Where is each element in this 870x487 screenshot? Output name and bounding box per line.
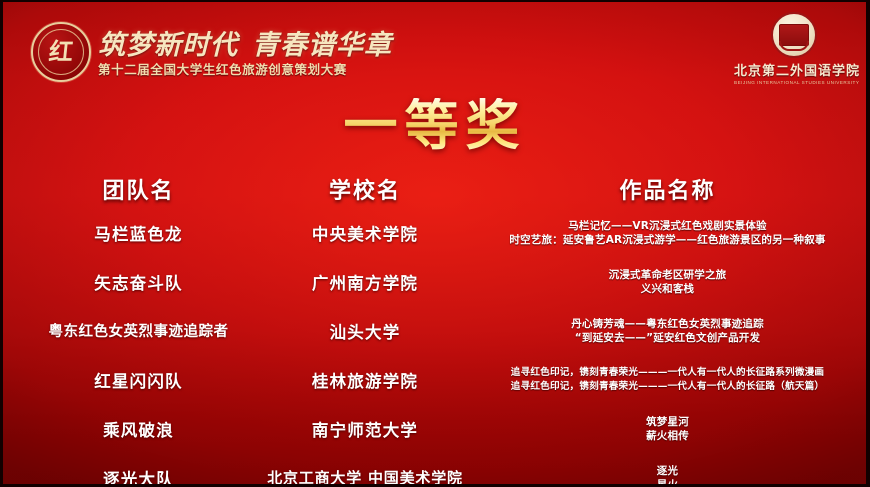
work-list: 马栏记忆——VR沉浸式红色戏剧实景体验 时空艺旅：延安鲁艺AR沉浸式游学——红色… <box>465 219 870 247</box>
work-title: 马栏记忆——VR沉浸式红色戏剧实景体验 <box>465 219 870 233</box>
table-row: 矢志奋斗队 广州南方学院 沉浸式革命老区研学之旅 义兴和客栈 <box>0 257 870 306</box>
school-name: 中央美术学院 <box>312 225 418 244</box>
slide-edge-left <box>0 0 3 487</box>
column-header-work: 作品名称 <box>465 173 870 205</box>
team-name: 红星闪闪队 <box>94 372 183 391</box>
column-header-school: 学校名 <box>265 173 465 205</box>
school-name: 南宁师范大学 <box>312 421 418 440</box>
school-name: 桂林旅游学院 <box>312 372 418 391</box>
university-name-cn: 北京第二外国语学院 <box>734 60 854 79</box>
team-name: 马栏蓝色龙 <box>94 225 183 244</box>
winners-table: 团队名 学校名 作品名称 马栏蓝色龙 中央美术学院 马栏记忆——VR沉浸式红色戏… <box>0 170 870 487</box>
school-name: 广州南方学院 <box>312 274 418 293</box>
table-row: 逐光大队 北京工商大学 中国美术学院 逐光 星火 <box>0 453 870 487</box>
team-name: 矢志奋斗队 <box>94 274 183 293</box>
team-name: 乘风破浪 <box>103 421 174 440</box>
work-list: 追寻红色印记，镌刻青春荣光———一代人有一代人的长征路系列微漫画 追寻红色印记，… <box>465 366 870 394</box>
work-list: 沉浸式革命老区研学之旅 义兴和客栈 <box>465 268 870 296</box>
contest-subtitle: 第十二届全国大学生红色旅游创意策划大赛 <box>98 59 347 78</box>
seal-inner-shape <box>779 24 809 46</box>
work-title: 追寻红色印记，镌刻青春荣光———一代人有一代人的长征路系列微漫画 <box>465 366 870 380</box>
calligraphy-line-1: 筑梦新时代 <box>98 30 238 61</box>
work-list: 丹心铸芳魂——粤东红色女英烈事迹追踪 “到延安去——”延安红色文创产品开发 <box>465 317 870 345</box>
work-title: 沉浸式革命老区研学之旅 <box>465 268 870 282</box>
work-title: 逐光 <box>465 464 870 478</box>
table-row: 马栏蓝色龙 中央美术学院 马栏记忆——VR沉浸式红色戏剧实景体验 时空艺旅：延安… <box>0 208 870 257</box>
team-name: 粤东红色女英烈事迹追踪者 <box>49 323 229 340</box>
award-title: 一等奖 <box>0 98 870 152</box>
slide-edge-right <box>866 0 870 487</box>
contest-emblem-icon: 红 <box>31 22 91 82</box>
work-title: 丹心铸芳魂——粤东红色女英烈事迹追踪 <box>465 317 870 331</box>
table-row: 乘风破浪 南宁师范大学 筑梦星河 薪火相传 <box>0 404 870 453</box>
emblem-glyph: 红 <box>48 40 75 64</box>
work-title: 追寻红色印记，镌刻青春荣光———一代人有一代人的长征路（航天篇） <box>465 380 870 394</box>
table-header-row: 团队名 学校名 作品名称 <box>0 170 870 208</box>
work-title: 筑梦星河 <box>465 415 870 429</box>
work-title: “到延安去——”延安红色文创产品开发 <box>465 331 870 345</box>
calligraphy-line-2: 青春谱华章 <box>252 30 392 61</box>
emblem-ring: 红 <box>38 29 84 75</box>
contest-calligraphy-title: 筑梦新时代青春谱华章 <box>98 23 398 62</box>
work-title: 义兴和客栈 <box>465 282 870 296</box>
table-row: 红星闪闪队 桂林旅游学院 追寻红色印记，镌刻青春荣光———一代人有一代人的长征路… <box>0 355 870 404</box>
column-header-team: 团队名 <box>0 173 265 205</box>
table-row: 粤东红色女英烈事迹追踪者 汕头大学 丹心铸芳魂——粤东红色女英烈事迹追踪 “到延… <box>0 306 870 355</box>
university-seal-icon <box>771 12 817 58</box>
university-logo: 北京第二外国语学院 BEIJING INTERNATIONAL STUDIES … <box>734 12 854 90</box>
header-banner: 红 筑梦新时代青春谱华章 第十二届全国大学生红色旅游创意策划大赛 北京第二外国语… <box>0 0 870 95</box>
work-title: 薪火相传 <box>465 429 870 443</box>
slide-edge-top <box>0 0 870 2</box>
work-title: 时空艺旅：延安鲁艺AR沉浸式游学——红色旅游景区的另一种叙事 <box>465 233 870 247</box>
school-name: 汕头大学 <box>330 323 401 342</box>
university-name-en: BEIJING INTERNATIONAL STUDIES UNIVERSITY <box>734 80 854 85</box>
work-list: 筑梦星河 薪火相传 <box>465 415 870 443</box>
award-slide: 红 筑梦新时代青春谱华章 第十二届全国大学生红色旅游创意策划大赛 北京第二外国语… <box>0 0 870 487</box>
